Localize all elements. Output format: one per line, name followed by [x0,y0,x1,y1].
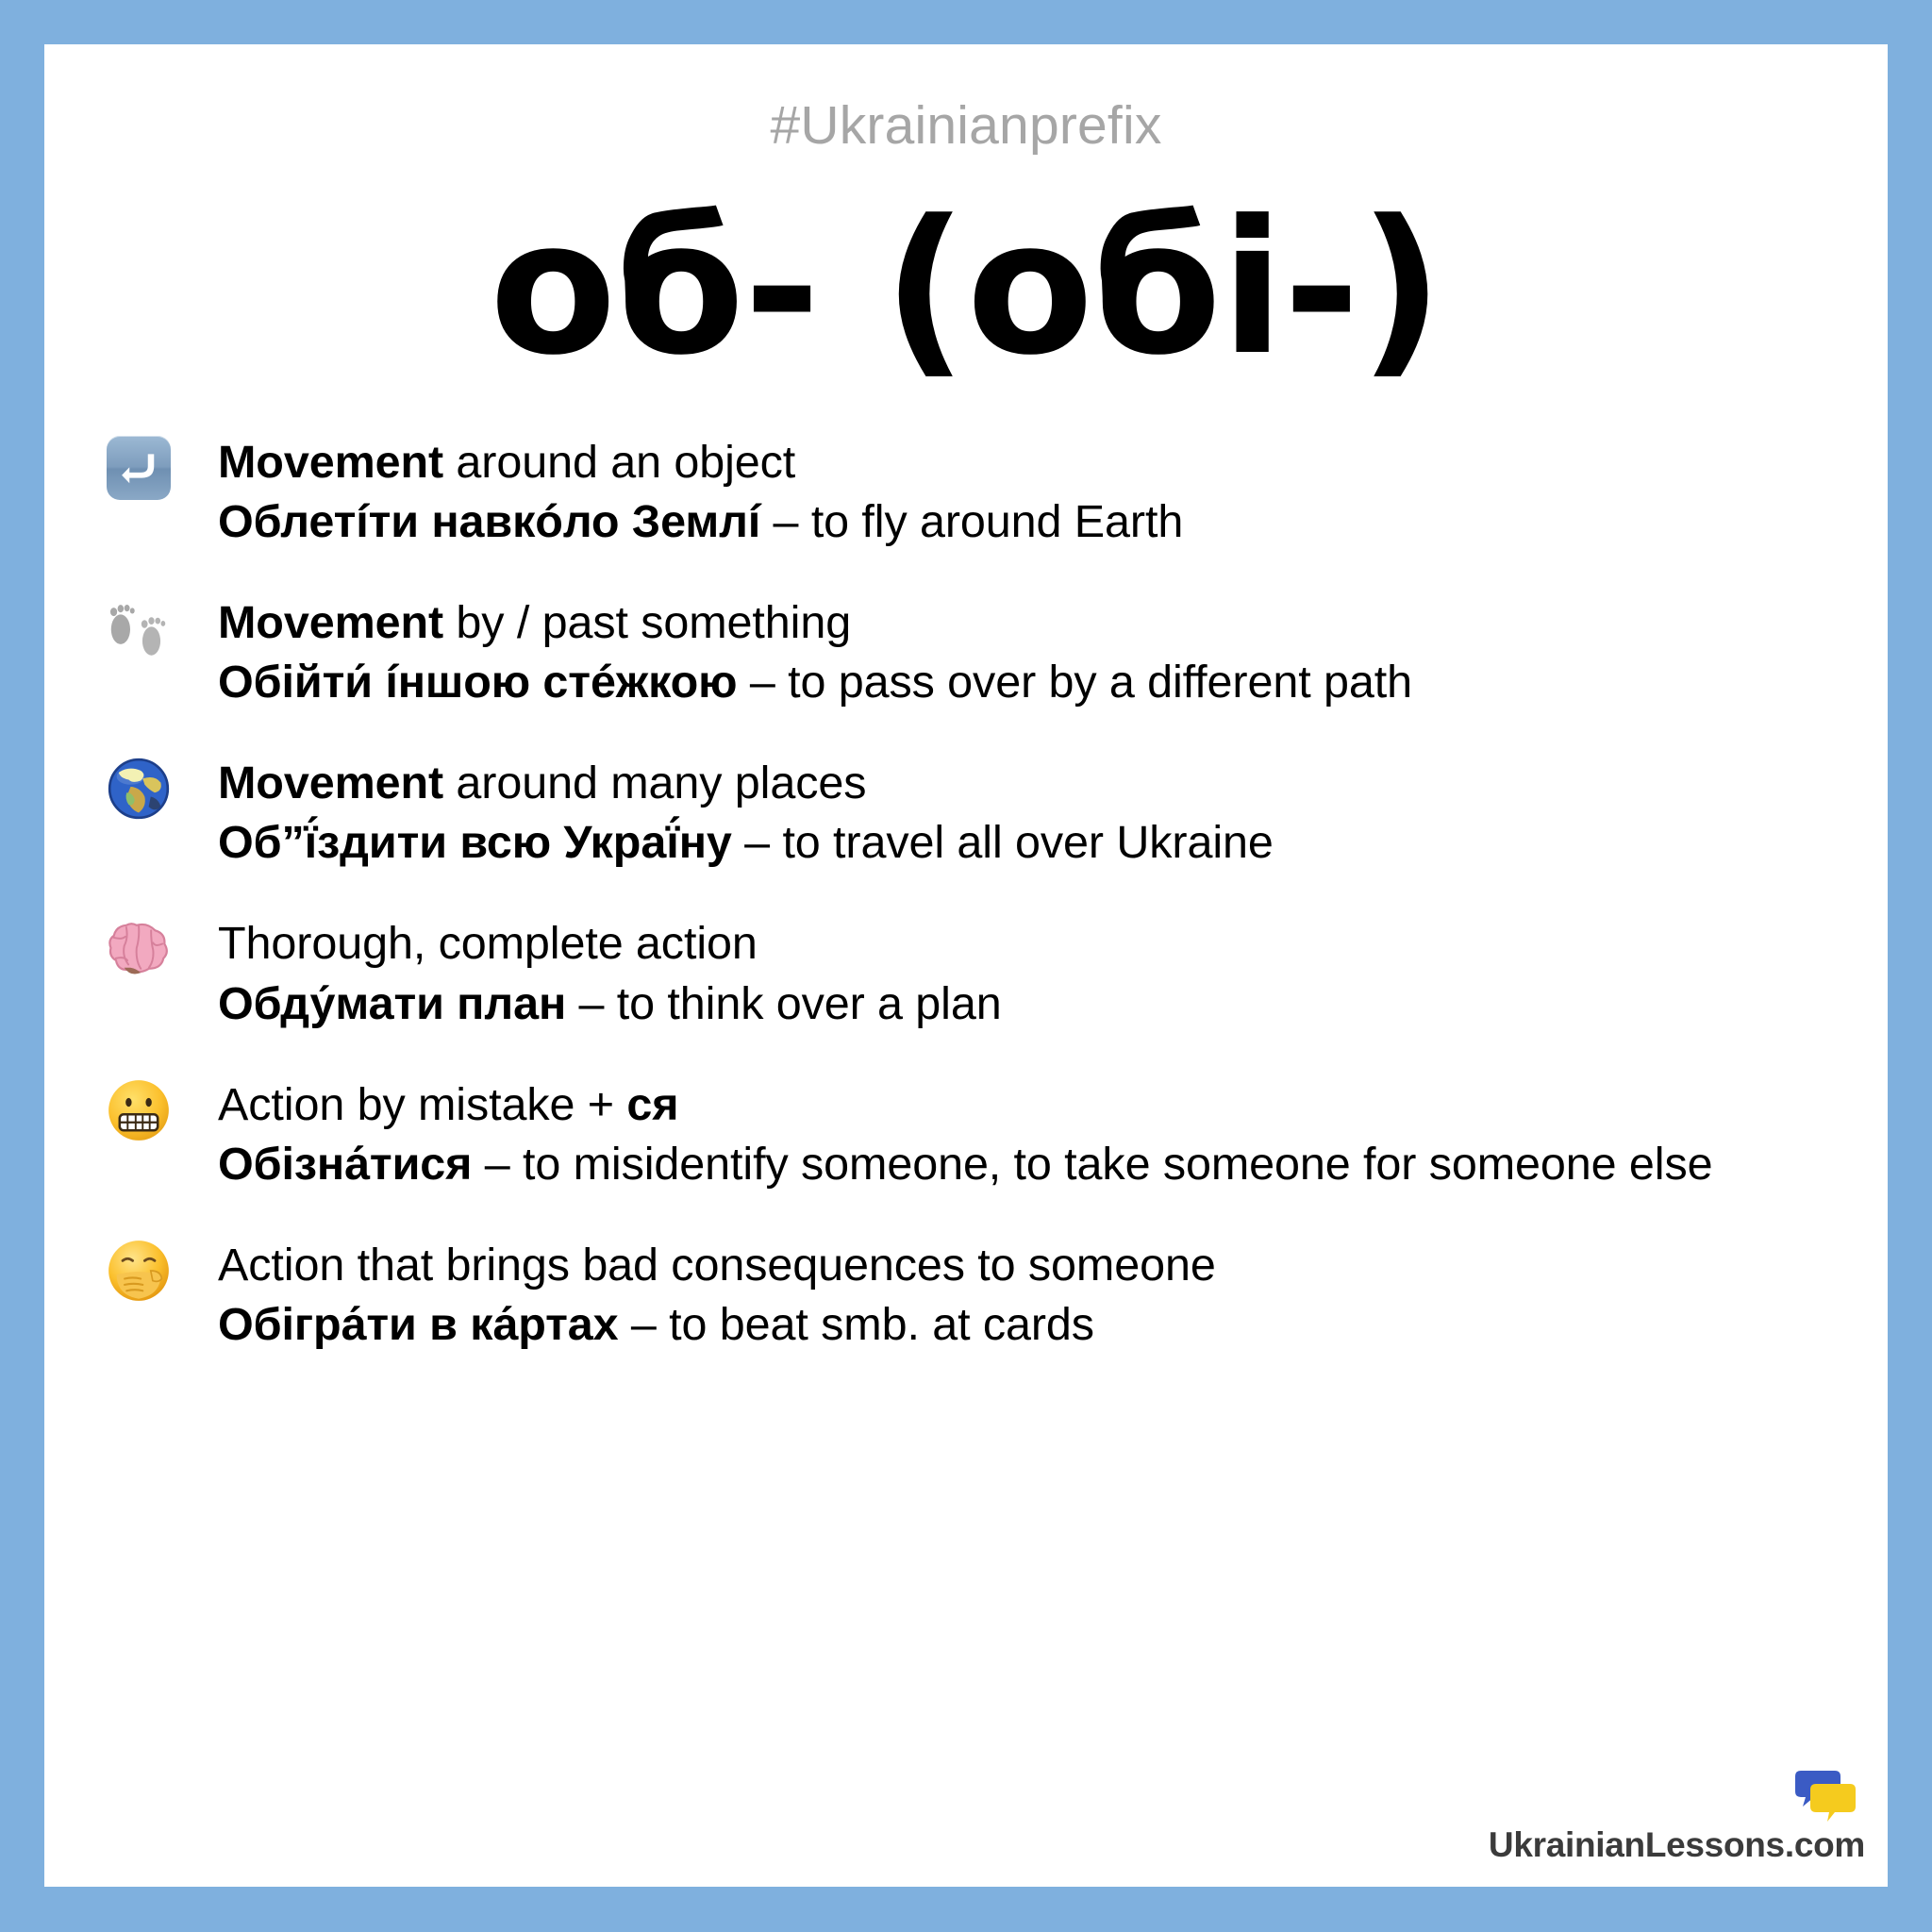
example-separator: – [566,978,617,1029]
example-ukrainian: Обігра́ти в ка́ртах [218,1299,619,1350]
example-translation: to travel all over Ukraine [782,817,1273,868]
meaning-rest: around many places [443,758,866,808]
poster-card: #Ukrainianprefix об- (обі-) Movement aro… [44,44,1888,1887]
example-ukrainian: Обду́мати план [218,978,566,1029]
example-line: Обізна́тися – to misidentify someone, to… [218,1136,1850,1193]
meaning-rest: Thorough, complete action [218,918,758,969]
meaning-text: Movement around many places Об”ї́здити в… [218,755,1850,872]
meaning-rest: around an object [443,437,795,488]
example-ukrainian: Обізна́тися [218,1139,472,1190]
face-with-hand-over-mouth-icon [103,1237,175,1305]
meaning-text: Action that brings bad consequences to s… [218,1237,1850,1354]
grimacing-face-icon [103,1076,175,1144]
example-translation: to think over a plan [617,978,1002,1029]
meaning-row: Action that brings bad consequences to s… [103,1237,1850,1354]
example-ukrainian: Об”ї́здити всю Украї́ну [218,817,732,868]
meaning-keyword-suffix: ся [626,1079,678,1130]
brain-icon [103,915,175,983]
meaning-rest: Action by mistake + [218,1079,626,1130]
example-translation: to fly around Earth [811,496,1183,547]
example-separator: – [472,1139,523,1190]
example-line: Облетíти навкóло Землí – to fly around E… [218,493,1850,551]
example-separator: – [760,496,811,547]
return-arrow-icon [103,434,175,502]
example-line: Обійти́ íншою стéжкою – to pass over by … [218,654,1850,711]
meaning-line: Movement around an object [218,434,1850,491]
brand-name: UkrainianLessons.com [1489,1827,1865,1862]
example-translation: to misidentify someone, to take someone … [523,1139,1712,1190]
return-arrow-glyph [114,443,163,492]
meaning-keyword: Movement [218,437,443,488]
example-line: Обігра́ти в ка́ртах – to beat smb. at ca… [218,1296,1850,1354]
meaning-row: Action by mistake + ся Обізна́тися – to … [103,1076,1850,1193]
example-separator: – [732,817,783,868]
poster: #Ukrainianprefix об- (обі-) Movement aro… [0,0,1932,1932]
meaning-text: Action by mistake + ся Обізна́тися – to … [218,1076,1850,1193]
example-separator: – [738,657,789,708]
meaning-text: Thorough, complete action Обду́мати план… [218,915,1850,1032]
brain-glyph [106,919,172,979]
example-separator: – [619,1299,670,1350]
example-translation: to beat smb. at cards [669,1299,1094,1350]
meaning-rest: by / past something [443,597,851,648]
meaning-line: Movement around many places [218,755,1850,812]
example-ukrainian: Облетíти навкóло Землí [218,496,760,547]
meaning-row: Thorough, complete action Обду́мати план… [103,915,1850,1032]
meaning-line: Action by mistake + ся [218,1076,1850,1134]
speech-bubbles-logo [1790,1767,1859,1824]
footprints-icon [103,594,175,662]
meaning-line: Thorough, complete action [218,915,1850,973]
face-with-hand-over-mouth-glyph [107,1239,171,1303]
meaning-keyword: Movement [218,597,443,648]
meaning-text: Movement around an object Облетíти навкó… [218,434,1850,551]
globe-glyph [107,757,171,821]
meaning-row: Movement around many places Об”ї́здити в… [103,755,1850,872]
meaning-row: Movement by / past something Обійти́ íнш… [103,594,1850,711]
meaning-line: Movement by / past something [218,594,1850,652]
meaning-rest: Action that brings bad consequences to s… [218,1240,1216,1291]
grimacing-face-glyph [107,1078,171,1142]
globe-icon [103,755,175,823]
return-arrow-icon-badge [107,436,171,500]
footprints-glyph [105,594,173,662]
hashtag: #Ukrainianprefix [44,44,1888,153]
example-line: Об”ї́здити всю Украї́ну – to travel all … [218,814,1850,872]
example-translation: to pass over by a different path [788,657,1412,708]
meaning-line: Action that brings bad consequences to s… [218,1237,1850,1294]
footer: UkrainianLessons.com [1489,1767,1865,1862]
meaning-row: Movement around an object Облетíти навкó… [103,434,1850,551]
example-line: Обду́мати план – to think over a plan [218,975,1850,1033]
meaning-keyword: Movement [218,758,443,808]
page-title: об- (обі-) [44,192,1888,387]
meaning-text: Movement by / past something Обійти́ íнш… [218,594,1850,711]
meanings-list: Movement around an object Облетíти навкó… [44,434,1888,1354]
example-ukrainian: Обійти́ íншою стéжкою [218,657,738,708]
